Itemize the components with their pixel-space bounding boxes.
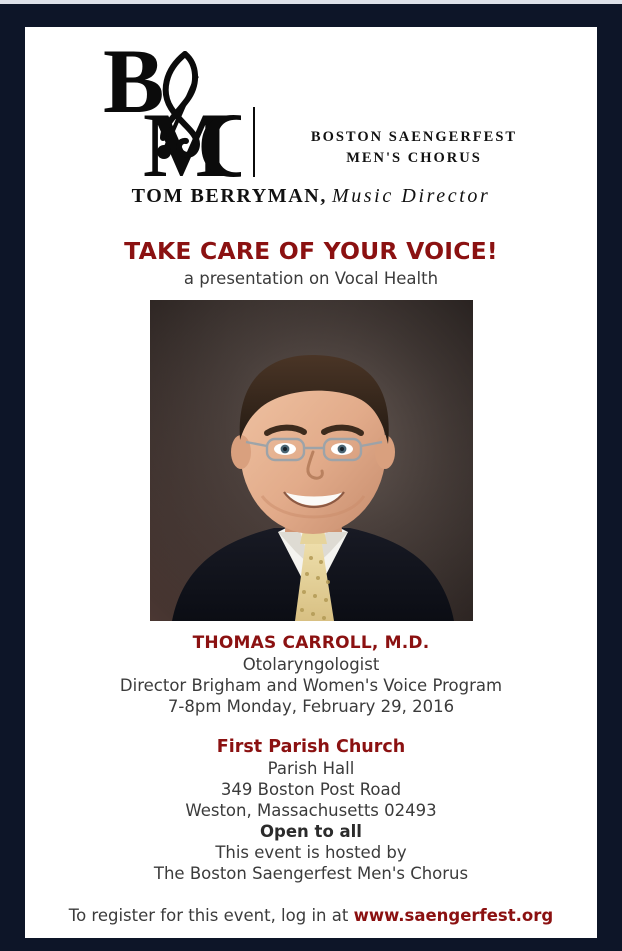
speaker-name: THOMAS CARROLL, M.D. <box>25 633 597 654</box>
page-subtitle: a presentation on Vocal Health <box>25 269 597 288</box>
hosted-by-label: This event is hosted by <box>25 842 597 863</box>
venue-street: 349 Boston Post Road <box>25 779 597 800</box>
letterhead: B M C BOSTON SAENGERFEST MEN'S CHORU <box>25 27 597 225</box>
venue-name: First Parish Church <box>25 737 597 758</box>
host-organization: The Boston Saengerfest Men's Chorus <box>25 863 597 884</box>
admission-note: Open to all <box>25 821 597 842</box>
speaker-photo <box>150 300 473 621</box>
speaker-specialty: Otolaryngologist <box>25 654 597 675</box>
speaker-headshot-image <box>150 300 473 621</box>
chorus-name: BOSTON SAENGERFEST MEN'S CHORUS <box>269 127 559 169</box>
venue-city-state-zip: Weston, Massachusetts 02493 <box>25 800 597 821</box>
top-hairline <box>0 0 622 4</box>
event-datetime: 7-8pm Monday, February 29, 2016 <box>25 696 597 717</box>
svg-text:C: C <box>197 94 241 180</box>
venue-room: Parish Hall <box>25 758 597 779</box>
director-line: TOM BERRYMAN, Music Director <box>25 185 597 208</box>
speaker-affiliation: Director Brigham and Women's Voice Progr… <box>25 675 597 696</box>
bsmc-monogram-logo: B M C <box>101 40 241 180</box>
logo-divider <box>253 107 255 177</box>
registration-url-link[interactable]: www.saengerfest.org <box>354 906 554 925</box>
registration-footer: To register for this event, log in at ww… <box>25 906 597 925</box>
page-title: TAKE CARE OF YOUR VOICE! <box>25 237 597 265</box>
poster: B M C BOSTON SAENGERFEST MEN'S CHORU <box>0 0 622 951</box>
poster-page: B M C BOSTON SAENGERFEST MEN'S CHORU <box>25 27 597 938</box>
chorus-name-line2: MEN'S CHORUS <box>269 148 559 169</box>
director-name: TOM BERRYMAN, <box>132 185 327 207</box>
director-role: Music Director <box>332 185 490 207</box>
venue-details: First Parish Church Parish Hall 349 Bost… <box>25 737 597 884</box>
speaker-details: THOMAS CARROLL, M.D. Otolaryngologist Di… <box>25 633 597 717</box>
treble-clef-monogram-icon: B M C <box>101 40 241 180</box>
register-text: To register for this event, log in at <box>69 906 349 925</box>
chorus-name-line1: BOSTON SAENGERFEST <box>311 129 517 145</box>
